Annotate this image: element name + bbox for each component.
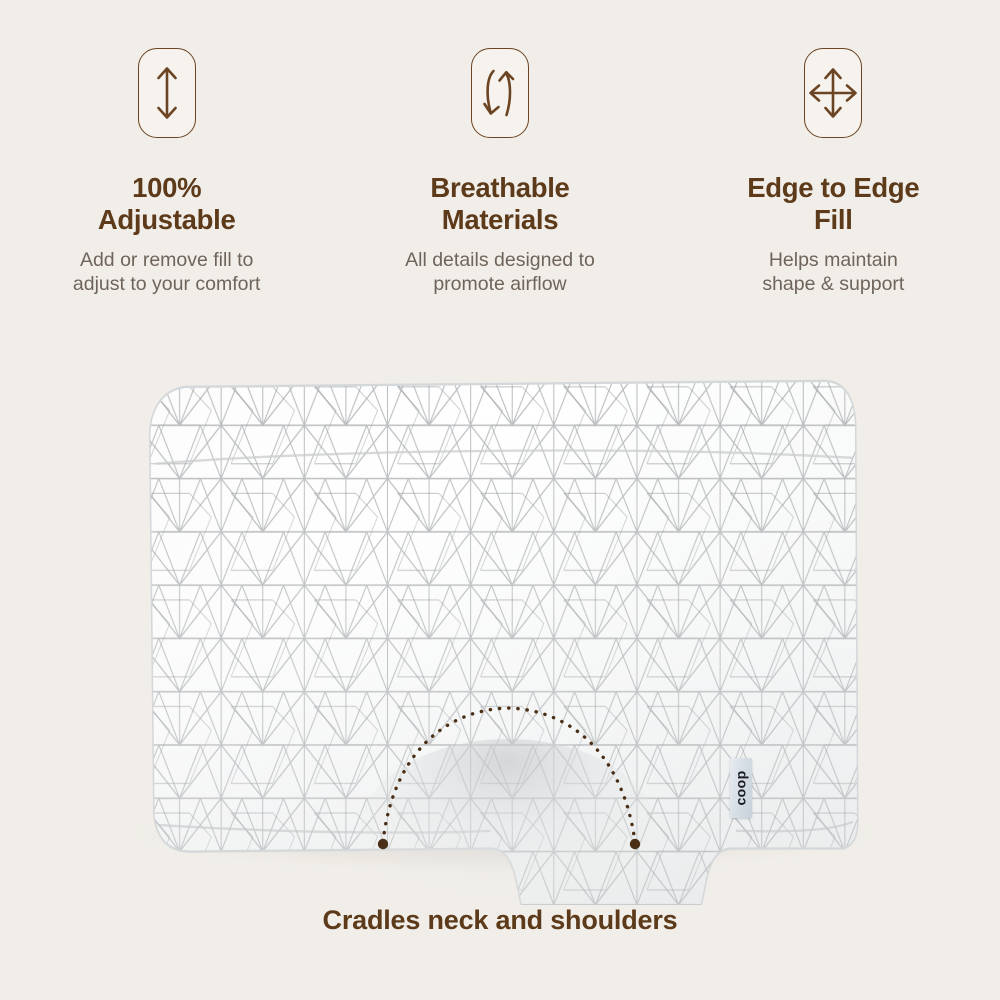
vertical-double-arrow-icon <box>138 48 196 138</box>
feature-row: 100% Adjustable Add or remove fill to ad… <box>0 0 1000 320</box>
feature-title-line-1: Edge to Edge <box>747 172 919 203</box>
product-caption: Cradles neck and shoulders <box>0 905 1000 936</box>
pillow-illustration <box>0 330 1000 905</box>
feature-breathable: Breathable Materials All details designe… <box>333 0 666 320</box>
brand-tag: coop <box>730 758 752 818</box>
four-way-expand-arrow-icon <box>804 48 862 138</box>
feature-description: Helps maintain shape & support <box>762 248 904 297</box>
brand-tag-label: coop <box>733 770 749 805</box>
product-image: coop <box>0 330 1000 905</box>
feature-desc-line-1: Helps maintain <box>769 249 898 271</box>
feature-description: All details designed to promote airflow <box>405 248 595 297</box>
feature-desc-line-2: shape & support <box>762 273 904 295</box>
feature-title-line-1: 100% <box>132 172 201 203</box>
feature-desc-line-2: adjust to your comfort <box>73 273 261 295</box>
feature-title: 100% Adjustable <box>98 172 236 237</box>
airflow-curved-arrows-icon <box>471 48 529 138</box>
feature-desc-line-1: All details designed to <box>405 249 595 271</box>
feature-edge-to-edge-fill: Edge to Edge Fill Helps maintain shape &… <box>667 0 1000 320</box>
feature-desc-line-2: promote airflow <box>433 273 566 295</box>
feature-title-line-2: Fill <box>814 204 853 235</box>
feature-title: Edge to Edge Fill <box>747 172 919 237</box>
arc-endpoint-dot-left <box>378 839 388 849</box>
feature-adjustable: 100% Adjustable Add or remove fill to ad… <box>0 0 333 320</box>
feature-title-line-1: Breathable <box>430 172 569 203</box>
feature-description: Add or remove fill to adjust to your com… <box>73 248 261 297</box>
arc-endpoint-dot-right <box>630 839 640 849</box>
feature-title-line-2: Adjustable <box>98 204 236 235</box>
feature-title-line-2: Materials <box>442 204 559 235</box>
feature-title: Breathable Materials <box>430 172 569 237</box>
feature-desc-line-1: Add or remove fill to <box>80 249 253 271</box>
